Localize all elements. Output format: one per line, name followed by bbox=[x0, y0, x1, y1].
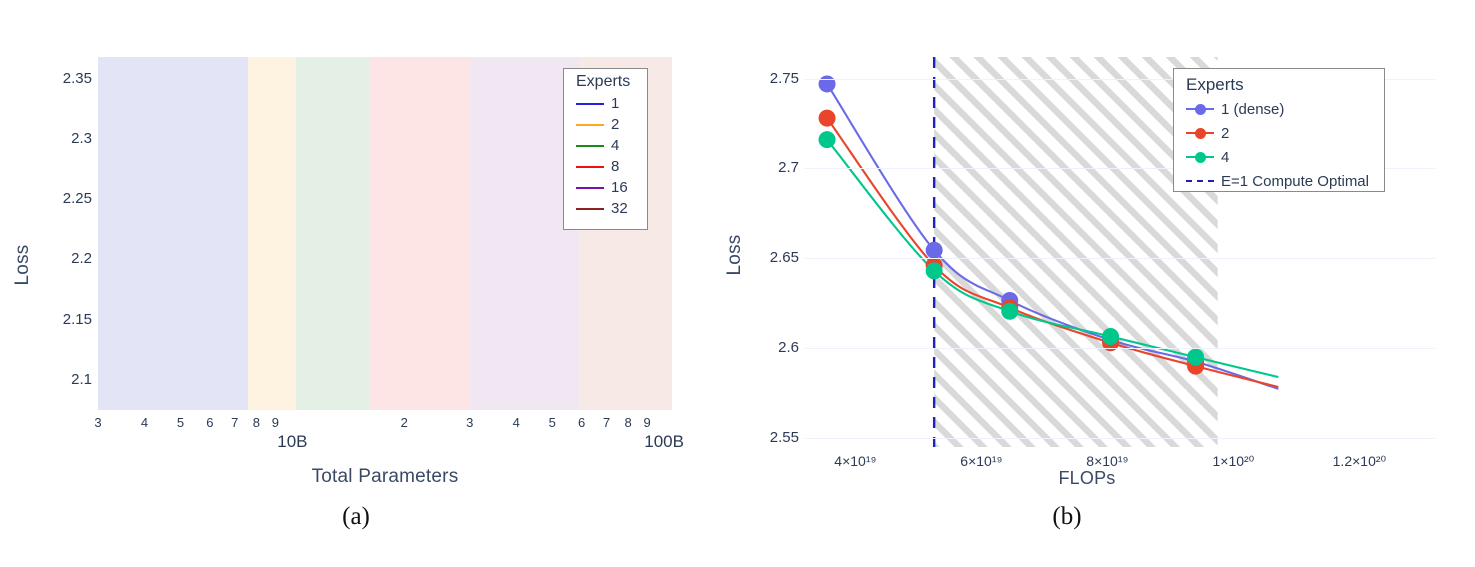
panel-a-x-tick-16: 100B bbox=[644, 432, 684, 452]
panel-b-legend-item-4[interactable]: 4 bbox=[1174, 145, 1384, 169]
panel-a-legend-label: 1 bbox=[611, 96, 619, 111]
panel-a-legend-title: Experts bbox=[564, 69, 647, 93]
panel-b-gridline-0 bbox=[805, 438, 1435, 439]
panel-a-x-tick-7: 10B bbox=[277, 432, 307, 452]
panel-b-x-axis-label: FLOPs bbox=[1058, 468, 1115, 489]
panel-a-x-tick-12: 6 bbox=[578, 415, 585, 430]
panel-b-legend[interactable]: Experts 1 (dense)24E=1 Compute Optimal bbox=[1173, 68, 1385, 192]
panel-b-legend-item-1-dense-[interactable]: 1 (dense) bbox=[1174, 97, 1384, 121]
legend-marker-line-icon bbox=[1186, 126, 1214, 140]
figure-root: Loss 2.12.152.22.252.32.35 345678910B234… bbox=[0, 0, 1475, 567]
panel-b-marker-4-1 bbox=[926, 262, 943, 279]
panel-b-legend-label: 1 (dense) bbox=[1221, 102, 1284, 117]
panel-a-legend[interactable]: Experts 12481632 bbox=[563, 68, 648, 230]
legend-marker-line-icon bbox=[1186, 102, 1214, 116]
panel-a-x-tick-15: 9 bbox=[643, 415, 650, 430]
panel-b-x-tick-4: 1.2×10²⁰ bbox=[1333, 453, 1386, 470]
panel-a-x-tick-1: 4 bbox=[141, 415, 148, 430]
panel-a-caption: (a) bbox=[342, 503, 370, 531]
panel-b-legend-item-e-1-compute-optimal[interactable]: E=1 Compute Optimal bbox=[1174, 169, 1384, 193]
panel-a-legend-item-32[interactable]: 32 bbox=[564, 198, 647, 219]
panel-a-legend-item-2[interactable]: 2 bbox=[564, 114, 647, 135]
legend-marker-line-icon bbox=[1186, 150, 1214, 164]
panel-a-y-tick-5: 2.35 bbox=[12, 70, 92, 87]
panel-a-x-tick-8: 2 bbox=[401, 415, 408, 430]
panel-b-marker-2-0 bbox=[819, 110, 836, 127]
panel-a-y-tick-4: 2.3 bbox=[12, 130, 92, 147]
panel-b-marker-4-4 bbox=[1187, 349, 1204, 366]
panel-a: Loss 2.12.152.22.252.32.35 345678910B234… bbox=[0, 0, 737, 567]
panel-a-x-axis-label: Total Parameters bbox=[312, 466, 459, 488]
panel-b-marker-4-2 bbox=[1001, 303, 1018, 320]
panel-a-legend-item-16[interactable]: 16 bbox=[564, 177, 647, 198]
legend-dashed-line-icon bbox=[1186, 174, 1214, 188]
panel-b-legend-label: E=1 Compute Optimal bbox=[1221, 174, 1369, 189]
legend-line-swatch-icon bbox=[576, 118, 604, 132]
panel-b-x-tick-2: 8×10¹⁹ bbox=[1086, 453, 1128, 469]
legend-line-swatch-icon bbox=[576, 202, 604, 216]
panel-a-x-tick-3: 6 bbox=[206, 415, 213, 430]
panel-a-legend-item-8[interactable]: 8 bbox=[564, 156, 647, 177]
panel-a-legend-item-4[interactable]: 4 bbox=[564, 135, 647, 156]
panel-a-legend-label: 32 bbox=[611, 201, 628, 216]
legend-line-swatch-icon bbox=[576, 139, 604, 153]
panel-b-gridline-2 bbox=[805, 258, 1435, 259]
panel-a-legend-label: 16 bbox=[611, 180, 628, 195]
panel-a-legend-label: 2 bbox=[611, 117, 619, 132]
panel-a-legend-items: 12481632 bbox=[564, 93, 647, 219]
panel-b-y-tick-1: 2.6 bbox=[719, 339, 799, 356]
panel-a-band-experts-1 bbox=[98, 57, 248, 410]
panel-b-legend-label: 2 bbox=[1221, 126, 1229, 141]
panel-a-y-tick-2: 2.2 bbox=[12, 250, 92, 267]
panel-a-x-tick-14: 8 bbox=[624, 415, 631, 430]
panel-a-x-tick-13: 7 bbox=[603, 415, 610, 430]
panel-a-x-tick-6: 9 bbox=[272, 415, 279, 430]
panel-b-y-tick-0: 2.55 bbox=[719, 429, 799, 446]
legend-line-swatch-icon bbox=[576, 160, 604, 174]
panel-b-marker-1 (dense)-1 bbox=[926, 242, 943, 259]
panel-b-caption: (b) bbox=[1052, 503, 1081, 531]
legend-line-swatch-icon bbox=[576, 97, 604, 111]
panel-b: Loss 2.552.62.652.72.75 4×10¹⁹6×10¹⁹8×10… bbox=[737, 0, 1475, 567]
legend-line-swatch-icon bbox=[576, 181, 604, 195]
panel-b-legend-title: Experts bbox=[1174, 69, 1384, 97]
panel-a-x-tick-0: 3 bbox=[94, 415, 101, 430]
panel-b-gridline-1 bbox=[805, 348, 1435, 349]
panel-a-x-tick-4: 7 bbox=[231, 415, 238, 430]
panel-b-x-tick-1: 6×10¹⁹ bbox=[960, 453, 1002, 469]
panel-b-y-tick-3: 2.7 bbox=[719, 159, 799, 176]
panel-a-band-experts-4 bbox=[296, 57, 371, 410]
panel-a-y-tick-3: 2.25 bbox=[12, 190, 92, 207]
panel-a-x-tick-10: 4 bbox=[513, 415, 520, 430]
panel-a-legend-label: 4 bbox=[611, 138, 619, 153]
panel-b-x-tick-3: 1×10²⁰ bbox=[1212, 453, 1254, 470]
panel-b-legend-items: 1 (dense)24E=1 Compute Optimal bbox=[1174, 97, 1384, 193]
panel-b-legend-item-2[interactable]: 2 bbox=[1174, 121, 1384, 145]
panel-a-y-tick-0: 2.1 bbox=[12, 371, 92, 388]
panel-b-marker-4-3 bbox=[1102, 328, 1119, 345]
panel-b-y-tick-4: 2.75 bbox=[719, 70, 799, 87]
panel-a-x-tick-5: 8 bbox=[253, 415, 260, 430]
panel-a-x-tick-2: 5 bbox=[177, 415, 184, 430]
panel-b-x-tick-0: 4×10¹⁹ bbox=[834, 453, 876, 469]
panel-a-x-tick-11: 5 bbox=[549, 415, 556, 430]
panel-a-legend-label: 8 bbox=[611, 159, 619, 174]
panel-a-band-experts-8 bbox=[370, 57, 469, 410]
panel-a-band-experts-2 bbox=[248, 57, 296, 410]
panel-a-x-tick-9: 3 bbox=[466, 415, 473, 430]
panel-b-y-tick-2: 2.65 bbox=[719, 249, 799, 266]
panel-a-legend-item-1[interactable]: 1 bbox=[564, 93, 647, 114]
panel-a-y-tick-1: 2.15 bbox=[12, 311, 92, 328]
panel-b-legend-label: 4 bbox=[1221, 150, 1229, 165]
panel-b-marker-4-0 bbox=[819, 131, 836, 148]
